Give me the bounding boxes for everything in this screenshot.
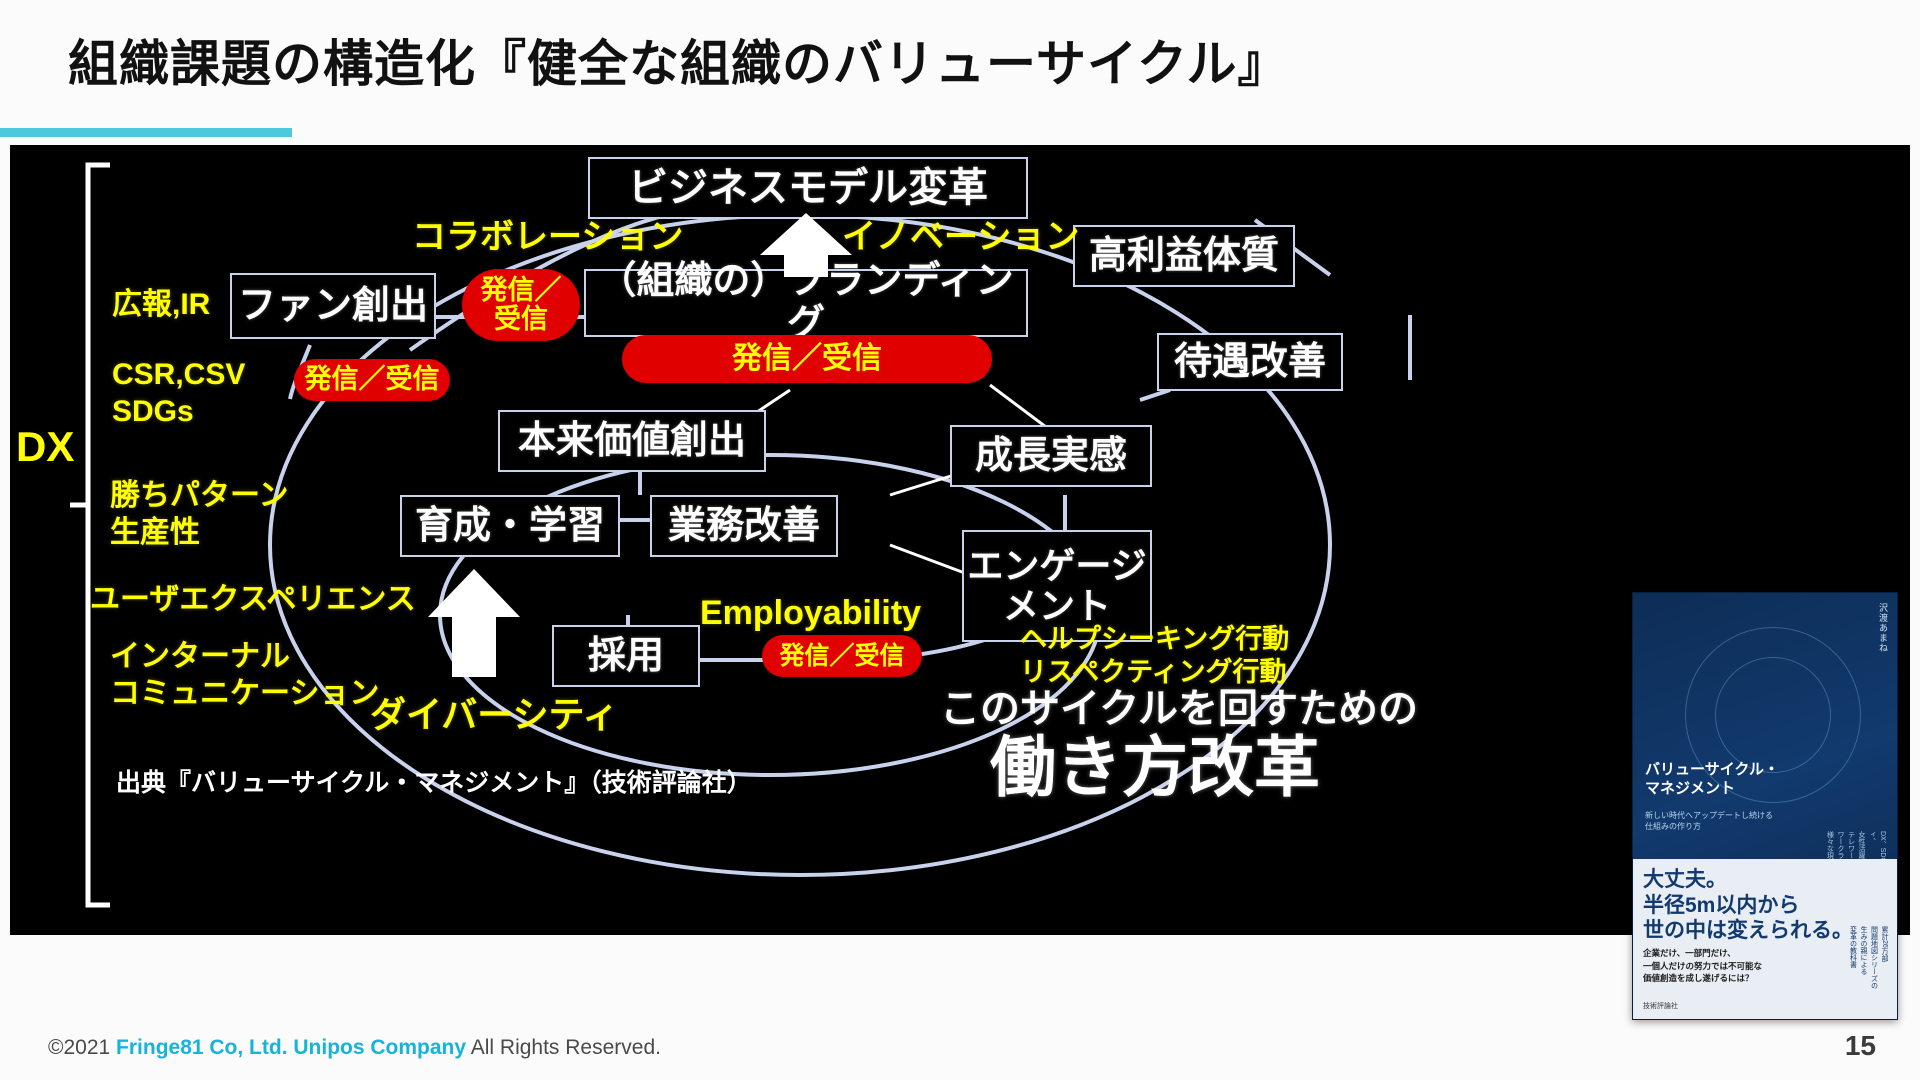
annotation-win-pattern: 勝ちパターン 生産性 [110,478,289,551]
book-ring-inner [1715,657,1831,773]
book-subtitle: 新しい時代へアップデートし続ける 仕組みの作り方 [1645,811,1773,833]
callout-line-2: 働き方改革 [990,731,1320,804]
callout-line-1: このサイクルを回すための [940,687,1418,731]
node-treatment[interactable]: 待遇改善 [1157,333,1343,391]
node-ops-improve[interactable]: 業務改善 [650,495,838,557]
annotation-pr-ir: 広報,IR [112,287,210,324]
slide-root: 組織課題の構造化『健全な組織のバリューサイクル』 [0,0,1920,1080]
book-publisher: 技術評論社 [1643,1001,1678,1011]
arrow-up-diversity [428,569,520,677]
diagram-canvas: DX ビジネスモデル変革 高利益体質 ファン創出 （組織の）ブランディング 待遇… [10,145,1910,935]
book-band-headline: 大丈夫。 半径5m以内から 世の中は変えられる。 [1643,867,1853,944]
book-title: バリューサイクル・ マネジメント [1645,761,1779,799]
annotation-internal-comm: インターナル コミュニケーション [110,639,379,712]
page-title: 組織課題の構造化『健全な組織のバリューサイクル』 [68,24,1289,96]
annotation-csr-csv-sdgs: CSR,CSV SDGs [112,357,245,430]
annotation-collaboration: コラボレーション [412,217,683,258]
footer-copyright: ©2021 Fringe81 Co, Ltd. Unipos Company A… [48,1036,661,1060]
annotation-user-experience: ユーザエクスペリエンス [90,582,416,619]
arrow-up-innovation [760,213,852,277]
pill-recruit: 発信／受信 [762,635,922,677]
pill-fan-lower: 発信／受信 [294,359,450,401]
book-band-copy: 企業だけ、一部門だけ、 一個人だけの努力では不可能な 価値創造を成し遂げるには？ [1643,947,1762,985]
pill-branding-core: 発信／受信 [622,335,992,383]
page-number: 15 [1845,1030,1876,1062]
source-citation: 出典『バリューサイクル・マネジメント』（技術評論社） [116,763,752,799]
footer-copyright-post: All Rights Reserved. [466,1036,661,1059]
node-business-model[interactable]: ビジネスモデル変革 [588,157,1028,219]
title-accent-bar [0,128,292,137]
annotation-employability: Employability [700,593,921,634]
node-development[interactable]: 育成・学習 [400,495,620,557]
pill-fan-branding: 発信／ 受信 [462,269,580,341]
node-branding[interactable]: （組織の）ブランディング [584,269,1028,337]
node-growth-feel[interactable]: 成長実感 [950,425,1152,487]
book-obi-band: 大丈夫。 半径5m以内から 世の中は変えられる。 企業だけ、一部門だけ、 一個人… [1633,859,1897,1019]
node-recruiting[interactable]: 採用 [552,625,700,687]
book-band-tagline: 累計26万部 問題地図シリーズの 生みの親による 変革の教科書 [1847,926,1889,989]
footer-brand: Fringe81 Co, Ltd. Unipos Company [116,1036,466,1059]
node-fan-creation[interactable]: ファン創出 [230,273,436,339]
annotation-innovation: イノベーション [842,217,1079,258]
footer-copyright-pre: ©2021 [48,1036,116,1059]
node-high-profit[interactable]: 高利益体質 [1073,225,1295,287]
annotation-help-seeking: ヘルプシーキング行動 リスペクティング行動 [1020,623,1289,689]
dx-bracket-label: DX [16,423,74,471]
node-intrinsic-value[interactable]: 本来価値創出 [498,410,766,472]
book-author: 沢渡あまね [1877,603,1890,653]
annotation-diversity: ダイバーシティ [370,693,618,737]
book-cover-image: 沢渡あまね バリューサイクル・ マネジメント 新しい時代へアップデートし続ける … [1632,592,1898,1020]
